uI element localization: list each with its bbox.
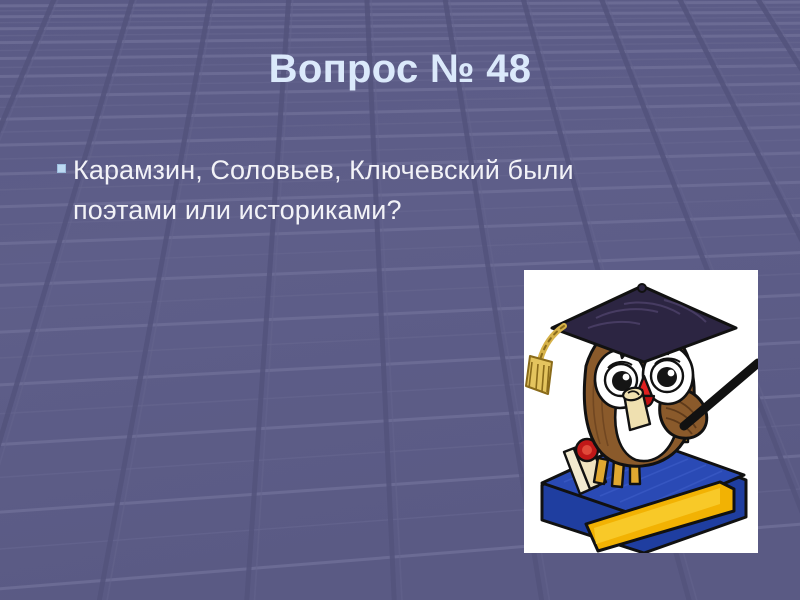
- slide-title: Вопрос № 48: [0, 46, 800, 92]
- square-bullet-icon: [57, 164, 66, 173]
- bullet-line-1: Карамзин, Соловьев, Ключевский были: [73, 150, 752, 190]
- owl-eye-right: [657, 367, 677, 387]
- slide-canvas: Вопрос № 48 Карамзин, Соловьев, Ключевск…: [0, 0, 800, 600]
- bullet-line-2: поэтами или историками?: [73, 190, 752, 230]
- list-item: Карамзин, Соловьев, Ключевский были поэт…: [52, 150, 752, 230]
- owl-professor-image: [524, 270, 758, 553]
- slide-body: Карамзин, Соловьев, Ключевский были поэт…: [52, 150, 752, 230]
